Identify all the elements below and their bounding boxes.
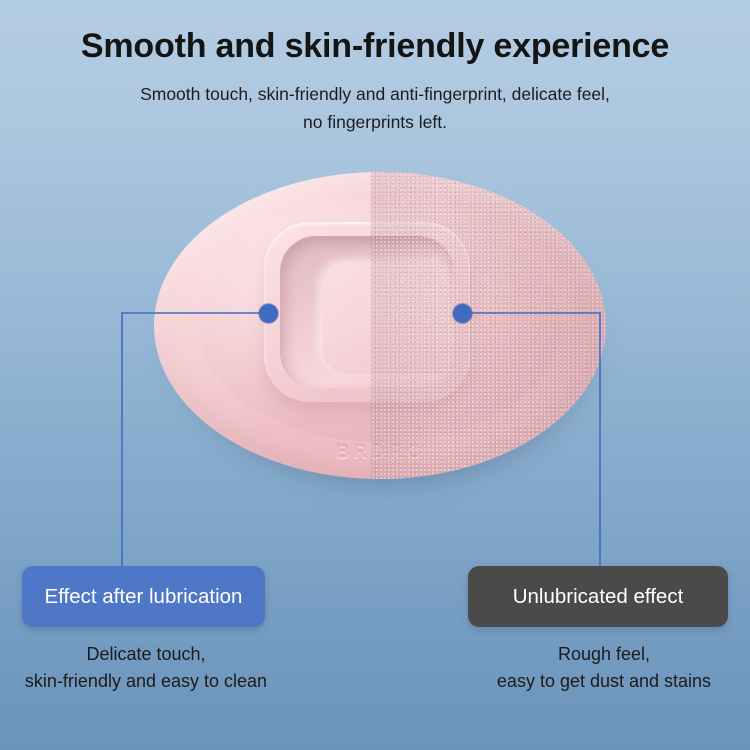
callout-dot-lubricated [259, 304, 278, 323]
caption-unlubricated: Rough feel, easy to get dust and stains [458, 641, 750, 696]
infographic-page: Smooth and skin-friendly experience Smoo… [0, 0, 750, 750]
product-dish: BRDRC [154, 172, 606, 479]
caption-lubricated-line-2: skin-friendly and easy to clean [0, 668, 292, 695]
badge-effect-after-lubrication[interactable]: Effect after lubrication [22, 566, 265, 627]
badge-unlubricated-effect[interactable]: Unlubricated effect [468, 566, 728, 627]
caption-lubricated-line-1: Delicate touch, [0, 641, 292, 668]
caption-unlubricated-line-1: Rough feel, [458, 641, 750, 668]
callout-dot-unlubricated [453, 304, 472, 323]
caption-lubricated: Delicate touch, skin-friendly and easy t… [0, 641, 292, 696]
caption-unlubricated-line-2: easy to get dust and stains [458, 668, 750, 695]
dish-rim-highlight [154, 172, 606, 479]
product-illustration: BRDRC [0, 0, 750, 750]
